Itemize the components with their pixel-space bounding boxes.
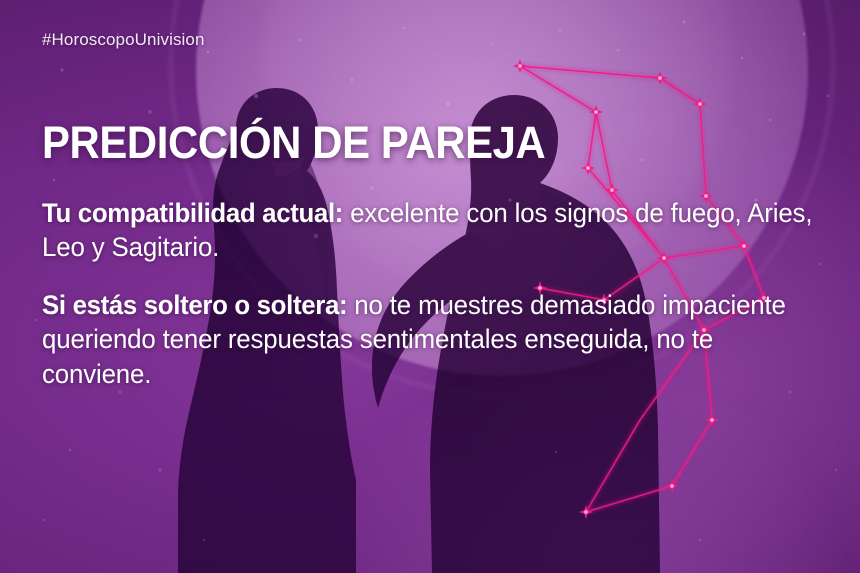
page-title: PREDICCIÓN DE PAREJA xyxy=(42,120,545,166)
horoscope-card: #HoroscopoUnivision PREDICCIÓN DE PAREJA… xyxy=(0,0,860,573)
hashtag-label: #HoroscopoUnivision xyxy=(42,30,205,50)
paragraph-compatibility-lead: Tu compatibilidad actual: xyxy=(42,198,343,228)
paragraph-single: Si estás soltero o soltera: no te muestr… xyxy=(42,288,820,391)
paragraph-compatibility: Tu compatibilidad actual: excelente con … xyxy=(42,196,820,265)
body-text: Tu compatibilidad actual: excelente con … xyxy=(42,196,840,391)
paragraph-single-lead: Si estás soltero o soltera: xyxy=(42,290,347,320)
card-content: #HoroscopoUnivision PREDICCIÓN DE PAREJA… xyxy=(0,0,860,573)
